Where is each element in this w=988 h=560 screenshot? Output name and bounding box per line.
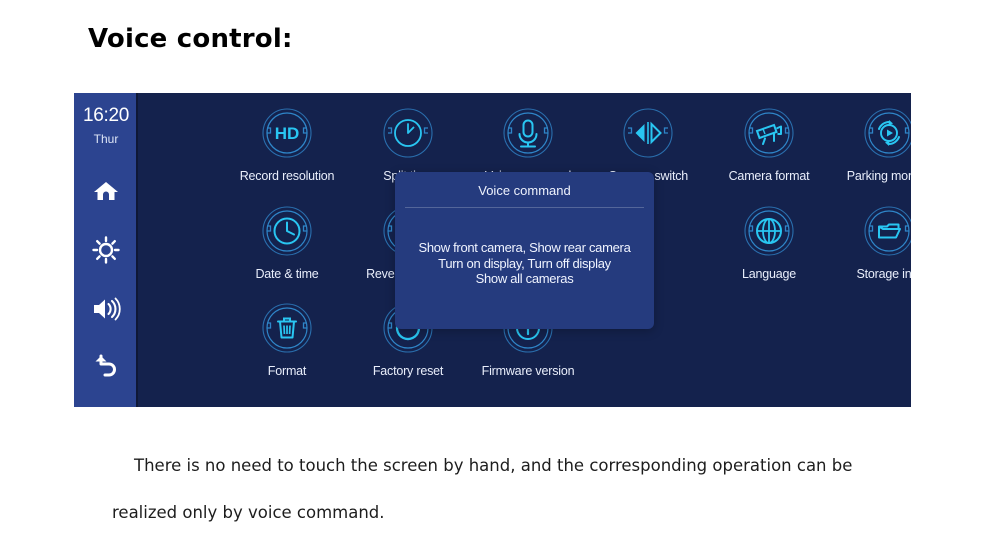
caption-line-1: There is no need to touch the screen by …	[134, 456, 852, 475]
voice-command-dialog[interactable]: Voice command Show front camera, Show re…	[395, 172, 654, 329]
dialog-divider	[405, 207, 644, 208]
dialog-command-list: Show front camera, Show rear camera Turn…	[401, 240, 648, 287]
command-line-1: Show front camera, Show rear camera	[401, 240, 648, 256]
command-line-2: Turn on display, Turn off display	[401, 256, 648, 272]
storage-folder-icon	[863, 205, 911, 257]
status-clock-time: 16:20	[74, 105, 138, 127]
back-arrow-icon	[92, 352, 120, 378]
tile-date-time[interactable]: Date & time	[217, 205, 357, 281]
tile-record-resolution[interactable]: HD Record resolution	[217, 107, 357, 183]
tile-parking-monitor[interactable]: Parking monitor	[819, 107, 911, 183]
tile-label: Language	[699, 267, 839, 281]
brightness-icon	[92, 236, 120, 264]
device-sidebar: 16:20 Thur	[74, 93, 138, 407]
tile-label: Parking monitor	[819, 169, 911, 183]
tile-camera-format[interactable]: Camera format	[699, 107, 839, 183]
camera-switch-icon	[622, 107, 674, 159]
home-icon	[93, 179, 119, 203]
tile-format[interactable]: Format	[217, 302, 357, 378]
camera-format-icon	[743, 107, 795, 159]
tile-storage-info[interactable]: Storage info	[819, 205, 911, 281]
page-title: Voice control:	[88, 24, 293, 54]
tile-label: Factory reset	[338, 364, 478, 378]
tile-label: Date & time	[217, 267, 357, 281]
volume-icon	[91, 296, 121, 322]
tile-label: Camera format	[699, 169, 839, 183]
command-line-3: Show all cameras	[401, 271, 648, 287]
sidebar-item-back[interactable]	[74, 343, 138, 387]
tile-label: Format	[217, 364, 357, 378]
sidebar-item-home[interactable]	[74, 169, 138, 213]
status-clock-day: Thur	[74, 132, 138, 146]
svg-text:HD: HD	[275, 124, 300, 143]
device-screenshot: 16:20 Thur	[74, 93, 911, 407]
tile-label: Storage info	[819, 267, 911, 281]
caption-paragraph: There is no need to touch the screen by …	[112, 442, 912, 536]
caption-line-2: realized only by voice command.	[112, 503, 385, 522]
tile-label: Firmware version	[458, 364, 598, 378]
sidebar-item-brightness[interactable]	[74, 228, 138, 272]
dialog-title: Voice command	[395, 183, 654, 198]
tile-language[interactable]: Language	[699, 205, 839, 281]
parking-monitor-icon	[863, 107, 911, 159]
globe-icon	[743, 205, 795, 257]
sidebar-item-volume[interactable]	[74, 287, 138, 331]
hd-icon: HD	[261, 107, 313, 159]
tile-label: Record resolution	[217, 169, 357, 183]
trash-icon	[261, 302, 313, 354]
date-time-icon	[261, 205, 313, 257]
microphone-icon	[502, 107, 554, 159]
split-time-icon	[382, 107, 434, 159]
